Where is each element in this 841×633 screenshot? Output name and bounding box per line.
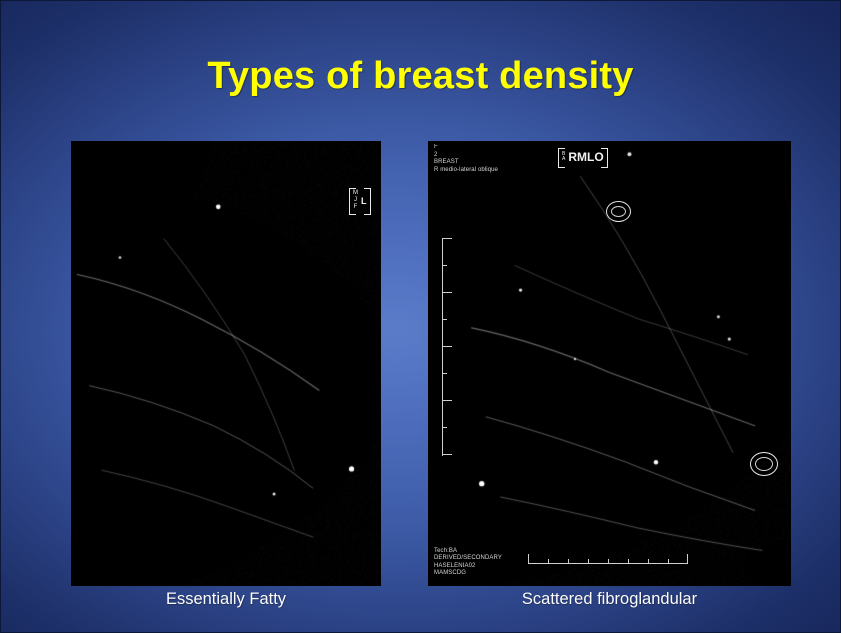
mammogram-canvas-left [71, 141, 381, 586]
view-marker-stack-left: MJF [353, 190, 358, 211]
caption-right: Scattered fibroglandular [428, 590, 791, 609]
view-marker-stack-right: BA [562, 152, 565, 163]
mammogram-image-left: MJF L [71, 141, 381, 586]
view-marker-left: MJF L [349, 188, 371, 213]
presentation-slide: Types of breast density MJF L Essentiall… [0, 0, 841, 633]
view-marker-label-right: RMLO [568, 150, 603, 164]
mammogram-image-right: F 2 BREAST R medio-lateral oblique Tech:… [428, 141, 791, 586]
view-marker-right: BA RMLO [558, 148, 608, 166]
view-marker-label-left: L [361, 196, 367, 206]
caption-left: Essentially Fatty [71, 590, 381, 609]
mammogram-canvas-right [428, 141, 791, 586]
page-title: Types of breast density [1, 55, 840, 98]
